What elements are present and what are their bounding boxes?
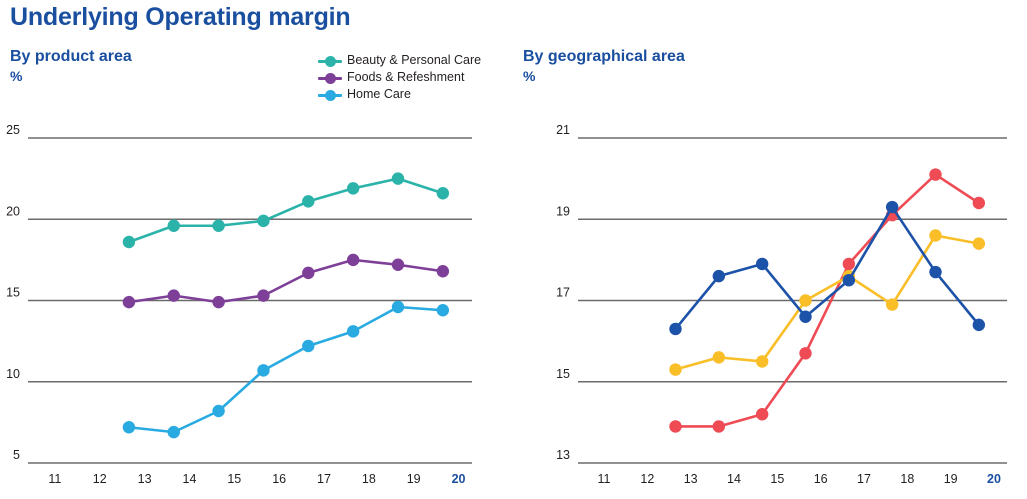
data-point — [123, 296, 135, 308]
data-point — [756, 355, 768, 367]
data-point — [123, 236, 135, 248]
data-point — [756, 258, 768, 270]
data-point — [973, 319, 985, 331]
data-point — [257, 289, 269, 301]
data-point — [212, 220, 224, 232]
series-line — [129, 179, 443, 242]
line-chart-by-geographical-area: 131517192111121314151617181920 — [513, 0, 1027, 499]
data-point — [843, 274, 855, 286]
panel-by-product-area: By product area % Beauty & Personal Care… — [0, 0, 513, 499]
data-point — [302, 267, 314, 279]
data-point — [392, 172, 404, 184]
data-point — [886, 201, 898, 213]
data-point — [347, 254, 359, 266]
data-point — [973, 237, 985, 249]
x-axis-tick-label: 12 — [640, 472, 654, 486]
x-axis-tick-label: 15 — [227, 472, 241, 486]
data-point — [437, 265, 449, 277]
x-axis-tick-label: 17 — [317, 472, 331, 486]
data-point — [713, 270, 725, 282]
x-axis-tick-label: 18 — [900, 472, 914, 486]
data-point — [713, 351, 725, 363]
data-point — [669, 420, 681, 432]
x-axis-tick-label: 20 — [452, 472, 466, 486]
data-point — [669, 323, 681, 335]
data-point — [212, 405, 224, 417]
data-point — [799, 294, 811, 306]
x-axis-tick-label: 13 — [684, 472, 698, 486]
data-point — [257, 215, 269, 227]
data-point — [929, 229, 941, 241]
data-point — [257, 364, 269, 376]
data-point — [886, 298, 898, 310]
data-point — [123, 421, 135, 433]
x-axis-tick-label: 15 — [770, 472, 784, 486]
x-axis-tick-label: 13 — [138, 472, 152, 486]
data-point — [756, 408, 768, 420]
data-point — [168, 289, 180, 301]
data-point — [347, 182, 359, 194]
data-point — [437, 187, 449, 199]
series-home-care — [123, 301, 449, 439]
data-point — [302, 340, 314, 352]
x-axis-tick-label: 18 — [362, 472, 376, 486]
y-axis-tick-label: 19 — [556, 204, 570, 218]
y-axis-tick-label: 5 — [13, 448, 20, 462]
series-the-americas — [669, 229, 985, 375]
y-axis-tick-label: 10 — [6, 367, 20, 381]
x-axis-tick-label: 11 — [598, 472, 611, 486]
y-axis-tick-label: 15 — [6, 286, 20, 300]
x-axis-tick-label: 16 — [272, 472, 286, 486]
y-axis-tick-label: 25 — [6, 123, 20, 137]
y-axis-tick-label: 13 — [556, 448, 570, 462]
series-europe — [669, 201, 985, 335]
x-axis-tick-label: 14 — [727, 472, 741, 486]
data-point — [799, 347, 811, 359]
data-point — [392, 259, 404, 271]
data-point — [973, 197, 985, 209]
y-axis-tick-label: 17 — [556, 286, 570, 300]
x-axis-tick-label: 14 — [183, 472, 197, 486]
data-point — [392, 301, 404, 313]
x-axis-tick-label: 11 — [48, 472, 61, 486]
data-point — [713, 420, 725, 432]
data-point — [212, 296, 224, 308]
x-axis-tick-label: 20 — [987, 472, 1001, 486]
x-axis-tick-label: 12 — [93, 472, 107, 486]
y-axis-tick-label: 20 — [6, 204, 20, 218]
x-axis-tick-label: 16 — [814, 472, 828, 486]
y-axis-tick-label: 21 — [556, 123, 570, 137]
data-point — [799, 311, 811, 323]
data-point — [437, 304, 449, 316]
chart-page: Underlying Operating margin By product a… — [0, 0, 1027, 499]
x-axis-tick-label: 17 — [857, 472, 871, 486]
series-beauty-personal-care — [123, 172, 449, 248]
panel-by-geographical-area: By geographical area % Asia/AMET/RUB The… — [513, 0, 1026, 499]
data-point — [168, 220, 180, 232]
line-chart-by-product-area: 51015202511121314151617181920 — [0, 0, 513, 499]
data-point — [168, 426, 180, 438]
x-axis-tick-label: 19 — [407, 472, 421, 486]
x-axis-tick-label: 19 — [944, 472, 958, 486]
series-line — [676, 236, 979, 370]
series-line — [129, 307, 443, 432]
data-point — [929, 168, 941, 180]
data-point — [929, 266, 941, 278]
data-point — [347, 325, 359, 337]
y-axis-tick-label: 15 — [556, 367, 570, 381]
data-point — [843, 258, 855, 270]
data-point — [302, 195, 314, 207]
data-point — [669, 363, 681, 375]
